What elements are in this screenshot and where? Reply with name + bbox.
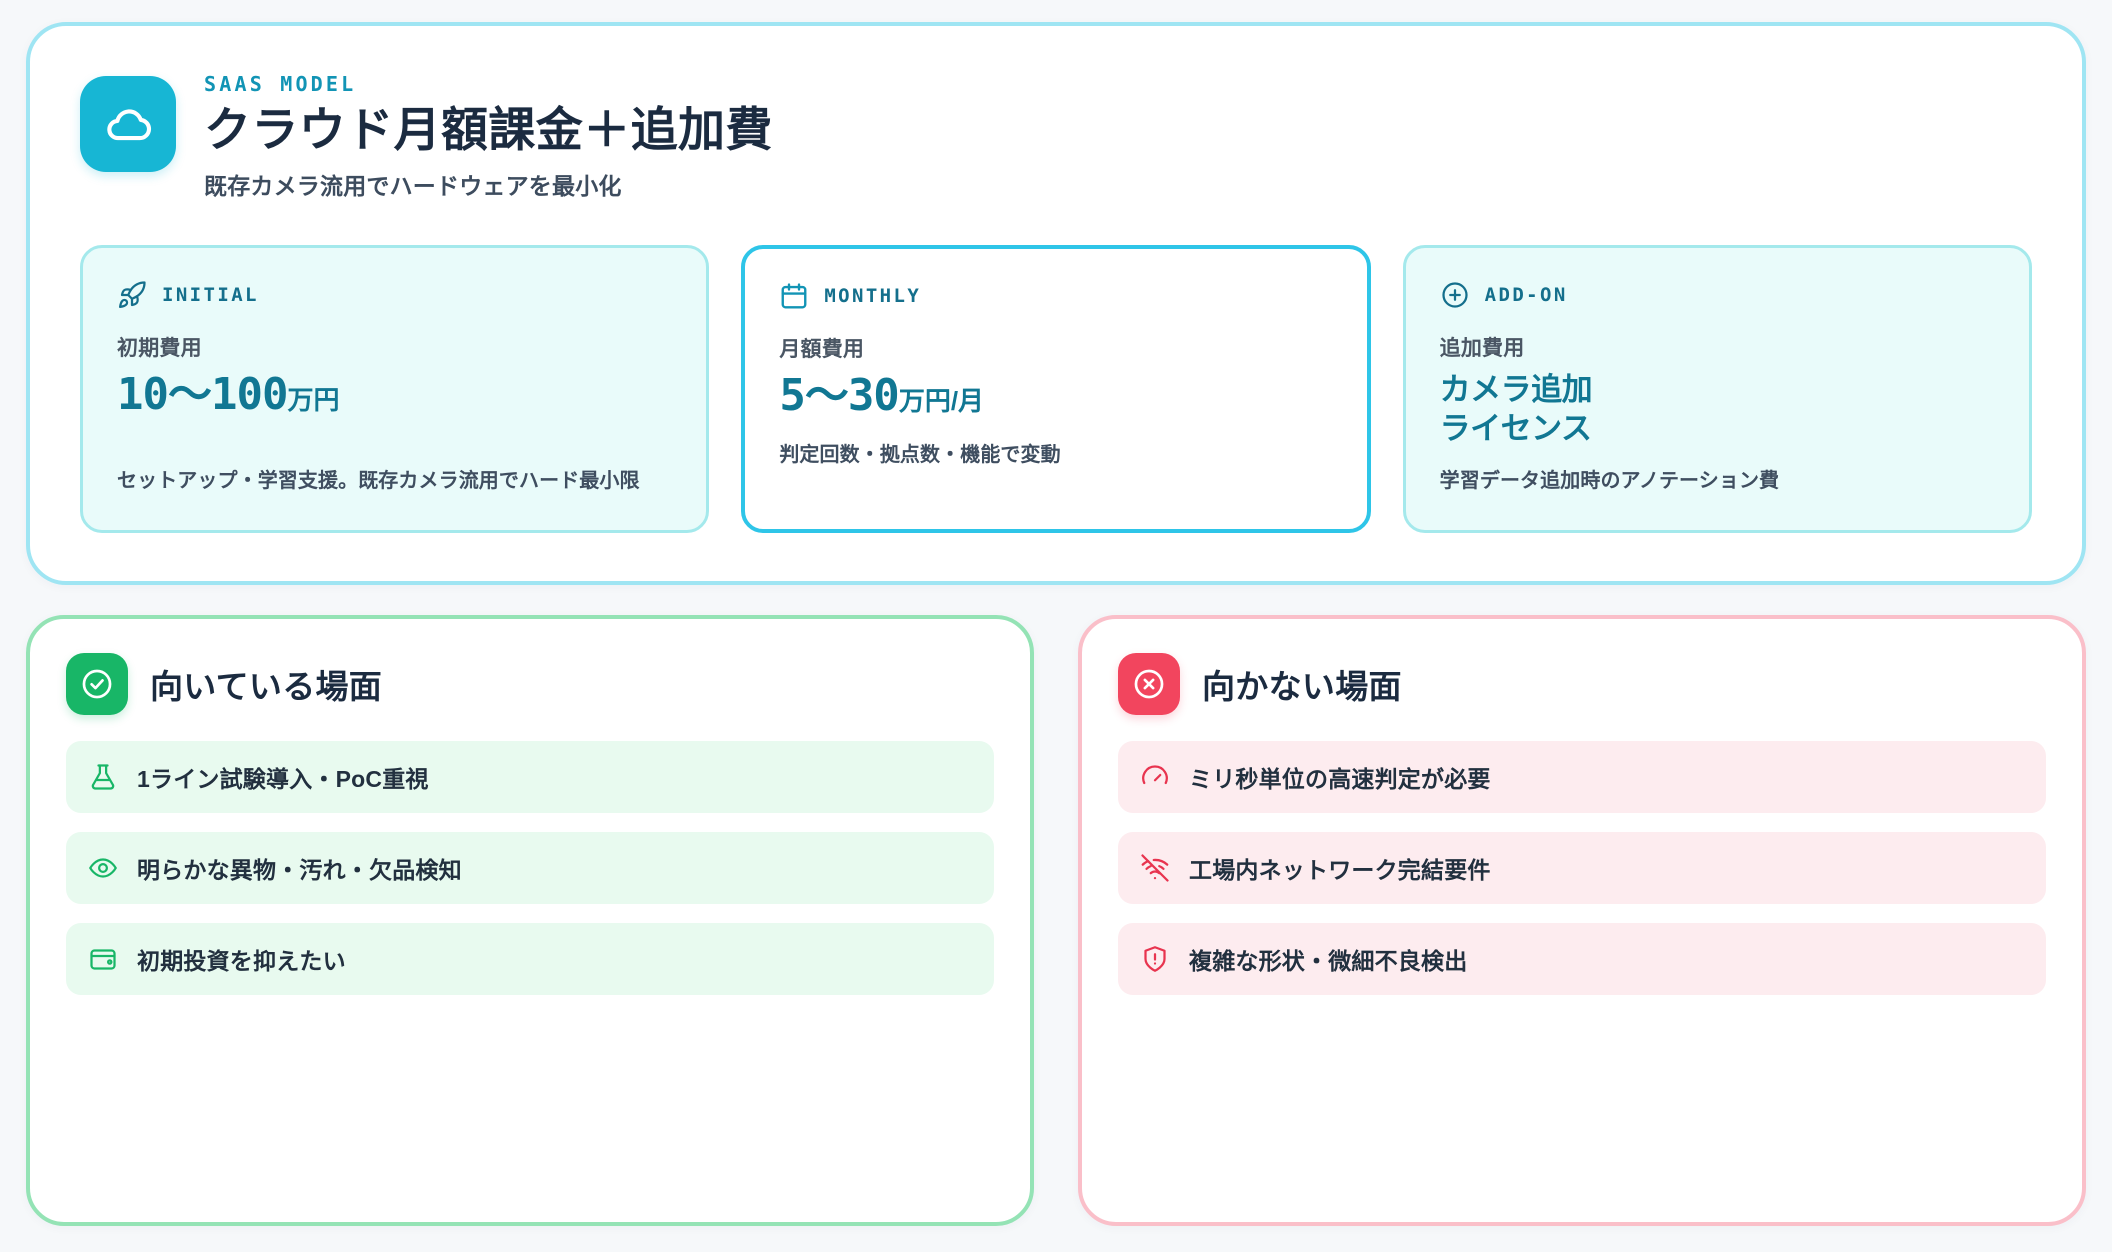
calendar-icon bbox=[779, 281, 809, 311]
flask-icon bbox=[88, 762, 118, 792]
metric-card-initial: INITIAL 初期費用 10〜100万円 セットアップ・学習支援。既存カメラ流… bbox=[80, 245, 709, 533]
verdict-title: 向かない場面 bbox=[1202, 660, 1402, 708]
metric-label: 初期費用 bbox=[117, 332, 672, 362]
saas-model-panel: SAAS MODEL クラウド月額課金＋追加費 既存カメラ流用でハードウェアを最… bbox=[26, 22, 2086, 585]
verdict-header: 向いている場面 bbox=[66, 653, 994, 715]
metric-value-unit: 万円/月 bbox=[899, 386, 984, 416]
wallet-icon bbox=[88, 944, 118, 974]
metric-tag-label: INITIAL bbox=[162, 284, 259, 306]
verdict-list: 1ライン試験導入・PoC重視 明らかな異物・汚れ・欠品検知 初期投資を bbox=[66, 741, 994, 995]
list-item-label: 1ライン試験導入・PoC重視 bbox=[137, 760, 429, 794]
list-item[interactable]: 複雑な形状・微細不良検出 bbox=[1118, 923, 2046, 995]
saas-header-text: SAAS MODEL クラウド月額課金＋追加費 既存カメラ流用でハードウェアを最… bbox=[204, 70, 773, 201]
plus-circle-icon bbox=[1440, 280, 1470, 310]
verdict-title: 向いている場面 bbox=[150, 660, 382, 708]
list-item[interactable]: 明らかな異物・汚れ・欠品検知 bbox=[66, 832, 994, 904]
page-subtitle: 既存カメラ流用でハードウェアを最小化 bbox=[204, 167, 773, 201]
verdict-panel-unsuitable: 向かない場面 ミリ秒単位の高速判定が必要 bbox=[1078, 615, 2086, 1226]
check-circle-icon bbox=[66, 653, 128, 715]
metric-value-number: 5〜30 bbox=[779, 370, 898, 421]
metric-tag: ADD-ON bbox=[1440, 280, 1995, 310]
metric-card-monthly: MONTHLY 月額費用 5〜30万円/月 判定回数・拠点数・機能で変動 bbox=[741, 245, 1370, 533]
metric-label: 月額費用 bbox=[779, 333, 1332, 363]
saas-panel-header: SAAS MODEL クラウド月額課金＋追加費 既存カメラ流用でハードウェアを最… bbox=[80, 70, 2032, 201]
list-item-label: ミリ秒単位の高速判定が必要 bbox=[1189, 760, 1491, 794]
metric-tag-label: MONTHLY bbox=[824, 285, 921, 307]
eyebrow-label: SAAS MODEL bbox=[204, 72, 773, 96]
metric-card-grid: INITIAL 初期費用 10〜100万円 セットアップ・学習支援。既存カメラ流… bbox=[80, 245, 2032, 533]
page-title: クラウド月額課金＋追加費 bbox=[204, 103, 773, 158]
eye-icon bbox=[88, 853, 118, 883]
metric-value: 10〜100万円 bbox=[117, 370, 672, 419]
list-item-label: 明らかな異物・汚れ・欠品検知 bbox=[137, 851, 462, 885]
page-root: SAAS MODEL クラウド月額課金＋追加費 既存カメラ流用でハードウェアを最… bbox=[0, 0, 2112, 1252]
list-item[interactable]: 工場内ネットワーク完結要件 bbox=[1118, 832, 2046, 904]
metric-note: 判定回数・拠点数・機能で変動 bbox=[779, 440, 1332, 470]
metric-tag: MONTHLY bbox=[779, 281, 1332, 311]
verdict-list: ミリ秒単位の高速判定が必要 工場内ネットワーク完結要件 bbox=[1118, 741, 2046, 995]
cloud-icon bbox=[80, 76, 176, 172]
list-item[interactable]: ミリ秒単位の高速判定が必要 bbox=[1118, 741, 2046, 813]
metric-note: 学習データ追加時のアノテーション費 bbox=[1440, 466, 1995, 496]
list-item-label: 工場内ネットワーク完結要件 bbox=[1189, 851, 1491, 885]
x-circle-icon bbox=[1118, 653, 1180, 715]
metric-value-number: 10〜100 bbox=[117, 369, 287, 420]
metric-value: カメラ追加 ライセンス bbox=[1440, 370, 1995, 448]
list-item-label: 複雑な形状・微細不良検出 bbox=[1189, 942, 1467, 976]
wifi-off-icon bbox=[1140, 853, 1170, 883]
verdict-panel-suitable: 向いている場面 1ライン試験導入・PoC重視 明らかな異物・汚れ・欠品検知 bbox=[26, 615, 1034, 1226]
gauge-icon bbox=[1140, 762, 1170, 792]
list-item[interactable]: 1ライン試験導入・PoC重視 bbox=[66, 741, 994, 813]
metric-value: 5〜30万円/月 bbox=[779, 371, 1332, 420]
metric-note: セットアップ・学習支援。既存カメラ流用でハード最小限 bbox=[117, 466, 672, 496]
metric-tag-label: ADD-ON bbox=[1485, 284, 1568, 306]
shield-alert-icon bbox=[1140, 944, 1170, 974]
verdict-header: 向かない場面 bbox=[1118, 653, 2046, 715]
metric-card-addon: ADD-ON 追加費用 カメラ追加 ライセンス 学習データ追加時のアノテーション… bbox=[1403, 245, 2032, 533]
rocket-icon bbox=[117, 280, 147, 310]
metric-value-unit: 万円 bbox=[287, 385, 339, 415]
list-item[interactable]: 初期投資を抑えたい bbox=[66, 923, 994, 995]
verdict-panels: 向いている場面 1ライン試験導入・PoC重視 明らかな異物・汚れ・欠品検知 bbox=[26, 615, 2086, 1226]
list-item-label: 初期投資を抑えたい bbox=[137, 942, 346, 976]
metric-label: 追加費用 bbox=[1440, 332, 1995, 362]
metric-tag: INITIAL bbox=[117, 280, 672, 310]
